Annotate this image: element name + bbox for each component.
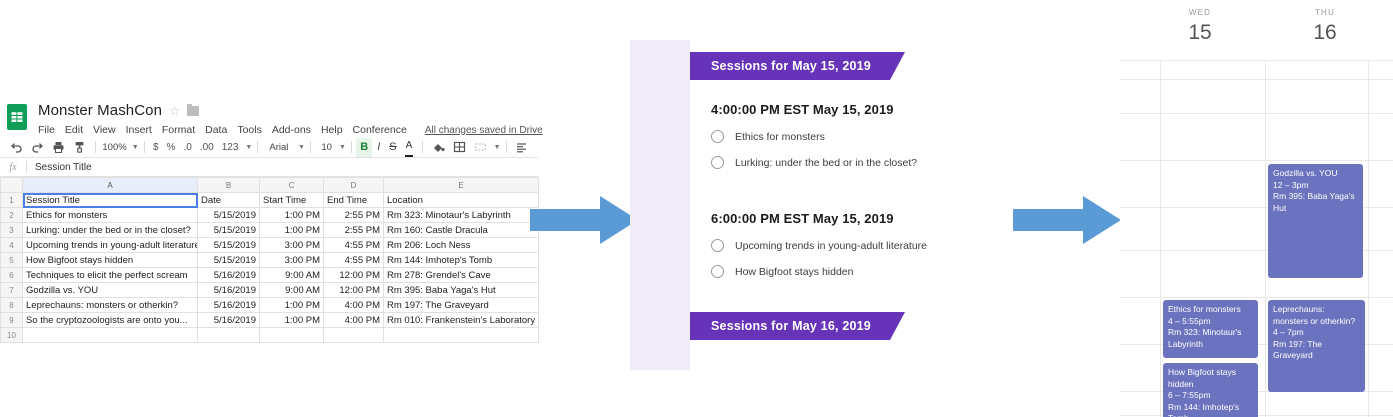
event-time: 4 – 5:55pm bbox=[1168, 316, 1253, 328]
calendar-event[interactable]: Godzilla vs. YOU 12 – 3pm Rm 395: Baba Y… bbox=[1268, 164, 1363, 278]
decrease-decimal-button[interactable]: .0 bbox=[179, 139, 195, 156]
cell-e3[interactable]: Rm 160: Castle Dracula bbox=[384, 223, 539, 238]
cell-a2[interactable]: Ethics for monsters bbox=[23, 208, 198, 223]
event-location: Rm 323: Minotaur's Labyrinth bbox=[1168, 327, 1253, 350]
calendar-grid[interactable]: Godzilla vs. YOU 12 – 3pm Rm 395: Baba Y… bbox=[1120, 60, 1393, 417]
column-header-e[interactable]: E bbox=[384, 178, 539, 193]
radio-button-icon[interactable] bbox=[711, 130, 724, 143]
cell-b10[interactable] bbox=[198, 328, 260, 343]
cell-e9[interactable]: Rm 010: Frankenstein's Laboratory bbox=[384, 313, 539, 328]
row-header[interactable]: 10 bbox=[1, 328, 23, 343]
column-header-c[interactable]: C bbox=[260, 178, 324, 193]
row-header[interactable]: 2 bbox=[1, 208, 23, 223]
right-arrow-2 bbox=[1013, 196, 1121, 244]
cell-e6[interactable]: Rm 278: Grendel's Cave bbox=[384, 268, 539, 283]
row-header[interactable]: 7 bbox=[1, 283, 23, 298]
cell-c5[interactable]: 3:00 PM bbox=[260, 253, 324, 268]
menu-format[interactable]: Format bbox=[162, 124, 195, 136]
cell-d1[interactable]: End Time bbox=[324, 193, 384, 208]
menu-conference[interactable]: Conference bbox=[353, 124, 407, 136]
table-row: 8 Leprechauns: monsters or otherkin? 5/1… bbox=[1, 298, 539, 313]
cell-a8[interactable]: Leprechauns: monsters or otherkin? bbox=[23, 298, 198, 313]
calendar-day-thu[interactable]: THU 16 bbox=[1275, 8, 1375, 45]
cell-e7[interactable]: Rm 395: Baba Yaga's Hut bbox=[384, 283, 539, 298]
zoom-chevron-down-icon[interactable]: ▼ bbox=[132, 144, 139, 151]
cell-c10[interactable] bbox=[260, 328, 324, 343]
column-header-row: A B C D E bbox=[1, 178, 539, 193]
cell-b3[interactable]: 5/15/2019 bbox=[198, 223, 260, 238]
event-title: Ethics for monsters bbox=[1168, 304, 1253, 316]
row-header[interactable]: 8 bbox=[1, 298, 23, 313]
calendar-day-of-week: THU bbox=[1275, 8, 1375, 17]
cell-d7[interactable]: 12:00 PM bbox=[324, 283, 384, 298]
radio-button-icon[interactable] bbox=[711, 239, 724, 252]
spreadsheet-grid: A B C D E 1 Session Title Date Start Tim… bbox=[0, 177, 538, 343]
cell-a3[interactable]: Lurking: under the bed or in the closet? bbox=[23, 223, 198, 238]
menu-bar: File Edit View Insert Format Data Tools … bbox=[38, 124, 543, 136]
italic-button[interactable]: I bbox=[372, 139, 385, 156]
calendar-day-number: 15 bbox=[1150, 21, 1250, 45]
cell-d10[interactable] bbox=[324, 328, 384, 343]
sheets-header: Monster MashCon ☆ File Edit View Insert … bbox=[0, 95, 538, 135]
cell-b6[interactable]: 5/16/2019 bbox=[198, 268, 260, 283]
session-option-label: Lurking: under the bed or in the closet? bbox=[735, 157, 917, 169]
zoom-level[interactable]: 100% bbox=[100, 139, 128, 156]
undo-icon[interactable] bbox=[6, 139, 27, 156]
bold-button[interactable]: B bbox=[356, 138, 372, 157]
title-block: Monster MashCon ☆ File Edit View Insert … bbox=[38, 101, 543, 136]
calendar-panel: WED 15 THU 16 Godzilla vs. YOU bbox=[1120, 0, 1393, 417]
strikethrough-button[interactable]: S bbox=[385, 139, 400, 156]
calendar-event[interactable]: Ethics for monsters 4 – 5:55pm Rm 323: M… bbox=[1163, 300, 1258, 358]
event-time: 6 – 7:55pm bbox=[1168, 390, 1253, 402]
font-chevron-down-icon[interactable]: ▼ bbox=[298, 144, 305, 151]
right-arrow-1 bbox=[530, 196, 638, 244]
cell-c8[interactable]: 1:00 PM bbox=[260, 298, 324, 313]
sessions-banner-label: Sessions for May 15, 2019 bbox=[690, 59, 871, 73]
calendar-day-of-week: WED bbox=[1150, 8, 1250, 17]
cell-c4[interactable]: 3:00 PM bbox=[260, 238, 324, 253]
table-row: 6 Techniques to elicit the perfect screa… bbox=[1, 268, 539, 283]
event-time: 4 – 7pm bbox=[1273, 327, 1360, 339]
table-row: 10 bbox=[1, 328, 539, 343]
paint-format-icon[interactable] bbox=[69, 139, 90, 156]
fx-icon: fx bbox=[0, 162, 26, 173]
row-header[interactable]: 6 bbox=[1, 268, 23, 283]
text-color-button[interactable]: A bbox=[405, 138, 414, 157]
cell-c9[interactable]: 1:00 PM bbox=[260, 313, 324, 328]
cell-c3[interactable]: 1:00 PM bbox=[260, 223, 324, 238]
slot-time-label: 4:00:00 PM EST May 15, 2019 bbox=[690, 80, 920, 117]
table-row: 2 Ethics for monsters 5/15/2019 1:00 PM … bbox=[1, 208, 539, 223]
sessions-banner-may-15: Sessions for May 15, 2019 bbox=[690, 52, 920, 80]
sheets-toolbar: 100% ▼ $ % .0 .00 123 ▼ Arial ▼ 10 ▼ B I… bbox=[0, 137, 538, 157]
number-format-button[interactable]: 123 bbox=[218, 139, 243, 156]
radio-button-icon[interactable] bbox=[711, 265, 724, 278]
cell-b1[interactable]: Date bbox=[198, 193, 260, 208]
cell-a10[interactable] bbox=[23, 328, 198, 343]
cell-b8[interactable]: 5/16/2019 bbox=[198, 298, 260, 313]
cell-a5[interactable]: How Bigfoot stays hidden bbox=[23, 253, 198, 268]
cell-e1[interactable]: Location bbox=[384, 193, 539, 208]
slot-spacer bbox=[690, 169, 920, 189]
event-location: Rm 395: Baba Yaga's Hut bbox=[1273, 191, 1358, 214]
align-left-icon[interactable] bbox=[511, 139, 532, 156]
cell-c6[interactable]: 9:00 AM bbox=[260, 268, 324, 283]
slot-time-label: 6:00:00 PM EST May 15, 2019 bbox=[690, 189, 920, 226]
menu-insert[interactable]: Insert bbox=[126, 124, 152, 136]
cell-d5[interactable]: 4:55 PM bbox=[324, 253, 384, 268]
cell-d6[interactable]: 12:00 PM bbox=[324, 268, 384, 283]
folder-icon[interactable] bbox=[187, 106, 199, 116]
increase-decimal-button[interactable]: .00 bbox=[196, 139, 218, 156]
row-header[interactable]: 5 bbox=[1, 253, 23, 268]
row-header[interactable]: 4 bbox=[1, 238, 23, 253]
session-option-label: How Bigfoot stays hidden bbox=[735, 266, 853, 278]
font-family-select[interactable]: Arial bbox=[263, 139, 295, 156]
menu-help[interactable]: Help bbox=[321, 124, 343, 136]
session-option[interactable]: Upcoming trends in young-adult literatur… bbox=[690, 226, 920, 252]
calendar-event[interactable]: How Bigfoot stays hidden 6 – 7:55pm Rm 1… bbox=[1163, 363, 1258, 417]
cell-d8[interactable]: 4:00 PM bbox=[324, 298, 384, 313]
cell-b5[interactable]: 5/15/2019 bbox=[198, 253, 260, 268]
sessions-banner-label: Sessions for May 16, 2019 bbox=[690, 319, 871, 333]
table-row: 1 Session Title Date Start Time End Time… bbox=[1, 193, 539, 208]
cell-a9[interactable]: So the cryptozoologists are onto you... bbox=[23, 313, 198, 328]
screenshot-stage: Monster MashCon ☆ File Edit View Insert … bbox=[0, 0, 1393, 417]
event-time: 12 – 3pm bbox=[1273, 180, 1358, 192]
radio-button-icon[interactable] bbox=[711, 156, 724, 169]
sessions-side-strip bbox=[630, 40, 690, 370]
calendar-event[interactable]: Leprechauns: monsters or otherkin? 4 – 7… bbox=[1268, 300, 1365, 392]
session-option-label: Ethics for monsters bbox=[735, 131, 825, 143]
cell-e4[interactable]: Rm 206: Loch Ness bbox=[384, 238, 539, 253]
calendar-day-number: 16 bbox=[1275, 21, 1375, 45]
cell-d3[interactable]: 2:55 PM bbox=[324, 223, 384, 238]
cell-d4[interactable]: 4:55 PM bbox=[324, 238, 384, 253]
event-location: Rm 197: The Graveyard bbox=[1273, 339, 1360, 362]
google-sheets-panel: Monster MashCon ☆ File Edit View Insert … bbox=[0, 95, 538, 315]
print-icon[interactable] bbox=[48, 139, 69, 156]
column-header-b[interactable]: B bbox=[198, 178, 260, 193]
session-slot-2: 6:00:00 PM EST May 15, 2019 Upcoming tre… bbox=[690, 189, 920, 278]
table-row: 7 Godzilla vs. YOU 5/16/2019 9:00 AM 12:… bbox=[1, 283, 539, 298]
cell-e5[interactable]: Rm 144: Imhotep's Tomb bbox=[384, 253, 539, 268]
formula-input[interactable]: Session Title bbox=[27, 162, 92, 173]
merge-cells-icon[interactable] bbox=[470, 139, 491, 156]
sheet-table: A B C D E 1 Session Title Date Start Tim… bbox=[0, 177, 539, 343]
fill-color-icon[interactable] bbox=[428, 139, 449, 156]
calendar-day-wed[interactable]: WED 15 bbox=[1150, 8, 1250, 45]
percent-format-button[interactable]: % bbox=[163, 139, 180, 156]
cell-e2[interactable]: Rm 323: Minotaur's Labyrinth bbox=[384, 208, 539, 223]
menu-view[interactable]: View bbox=[93, 124, 116, 136]
cell-e8[interactable]: Rm 197: The Graveyard bbox=[384, 298, 539, 313]
menu-tools[interactable]: Tools bbox=[237, 124, 262, 136]
menu-data[interactable]: Data bbox=[205, 124, 227, 136]
cell-c1[interactable]: Start Time bbox=[260, 193, 324, 208]
menu-add-ons[interactable]: Add-ons bbox=[272, 124, 311, 136]
cell-c2[interactable]: 1:00 PM bbox=[260, 208, 324, 223]
event-title: How Bigfoot stays hidden bbox=[1168, 367, 1253, 390]
row-header[interactable]: 9 bbox=[1, 313, 23, 328]
cell-a4[interactable]: Upcoming trends in young-adult literatur… bbox=[23, 238, 198, 253]
session-option[interactable]: Lurking: under the bed or in the closet? bbox=[690, 143, 920, 169]
select-all-corner[interactable] bbox=[1, 178, 23, 193]
cell-a6[interactable]: Techniques to elicit the perfect scream bbox=[23, 268, 198, 283]
table-row: 3 Lurking: under the bed or in the close… bbox=[1, 223, 539, 238]
number-format-chevron-down-icon[interactable]: ▼ bbox=[245, 144, 252, 151]
merge-chevron-down-icon[interactable]: ▼ bbox=[494, 144, 501, 151]
sessions-banner-may-16: Sessions for May 16, 2019 bbox=[690, 312, 920, 340]
sessions-panel: Sessions for May 15, 2019 4:00:00 PM EST… bbox=[630, 40, 920, 370]
menu-file[interactable]: File bbox=[38, 124, 55, 136]
session-option-label: Upcoming trends in young-adult literatur… bbox=[735, 240, 927, 252]
cell-e10[interactable] bbox=[384, 328, 539, 343]
redo-icon[interactable] bbox=[27, 139, 48, 156]
session-slot-1: 4:00:00 PM EST May 15, 2019 Ethics for m… bbox=[690, 80, 920, 169]
cell-b9[interactable]: 5/16/2019 bbox=[198, 313, 260, 328]
cell-d2[interactable]: 2:55 PM bbox=[324, 208, 384, 223]
doc-title-row: Monster MashCon ☆ bbox=[38, 101, 543, 121]
row-header[interactable]: 1 bbox=[1, 193, 23, 208]
cell-c7[interactable]: 9:00 AM bbox=[260, 283, 324, 298]
currency-format-button[interactable]: $ bbox=[149, 139, 163, 156]
font-size-select[interactable]: 10 bbox=[315, 139, 336, 156]
cell-b4[interactable]: 5/15/2019 bbox=[198, 238, 260, 253]
save-status[interactable]: All changes saved in Drive bbox=[425, 125, 543, 136]
cell-b7[interactable]: 5/16/2019 bbox=[198, 283, 260, 298]
event-location: Rm 144: Imhotep's Tomb bbox=[1168, 402, 1253, 417]
session-option[interactable]: How Bigfoot stays hidden bbox=[690, 252, 920, 278]
google-sheets-icon bbox=[6, 103, 28, 131]
session-option[interactable]: Ethics for monsters bbox=[690, 117, 920, 143]
event-title: Godzilla vs. YOU bbox=[1273, 168, 1358, 180]
cell-a7[interactable]: Godzilla vs. YOU bbox=[23, 283, 198, 298]
event-title: Leprechauns: monsters or otherkin? bbox=[1273, 304, 1360, 327]
row-header[interactable]: 3 bbox=[1, 223, 23, 238]
calendar-header: WED 15 THU 16 bbox=[1120, 0, 1393, 60]
cell-d9[interactable]: 4:00 PM bbox=[324, 313, 384, 328]
table-row: 4 Upcoming trends in young-adult literat… bbox=[1, 238, 539, 253]
column-header-a[interactable]: A bbox=[23, 178, 198, 193]
cell-a1[interactable]: Session Title bbox=[23, 193, 198, 208]
sessions-card: Sessions for May 15, 2019 4:00:00 PM EST… bbox=[690, 40, 920, 370]
star-outline-icon[interactable]: ☆ bbox=[169, 105, 180, 117]
table-row: 9 So the cryptozoologists are onto you..… bbox=[1, 313, 539, 328]
cell-b2[interactable]: 5/15/2019 bbox=[198, 208, 260, 223]
column-header-d[interactable]: D bbox=[324, 178, 384, 193]
formula-bar: fx Session Title bbox=[0, 157, 538, 177]
page-title[interactable]: Monster MashCon bbox=[38, 102, 162, 120]
table-row: 5 How Bigfoot stays hidden 5/15/2019 3:0… bbox=[1, 253, 539, 268]
menu-edit[interactable]: Edit bbox=[65, 124, 83, 136]
font-size-chevron-down-icon[interactable]: ▼ bbox=[339, 144, 346, 151]
borders-icon[interactable] bbox=[449, 139, 470, 156]
